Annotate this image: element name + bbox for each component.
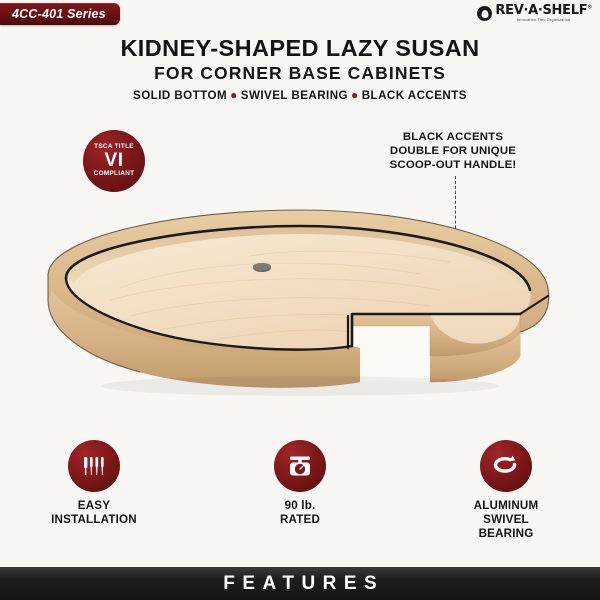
tsca-compliance-seal: TSCA TITLE VI COMPLIANT — [83, 130, 145, 192]
callout-annotation: BLACK ACCENTS DOUBLE FOR UNIQUE SCOOP-OU… — [378, 131, 528, 173]
brand-logo: REV·A·SHELF® Innovation Thru Organizatio… — [477, 4, 592, 22]
feature-label: 90 lb. RATED — [280, 499, 320, 527]
series-badge: 4CC-401 Series — [0, 3, 120, 25]
headline-feature-1: SOLID BOTTOM — [133, 89, 227, 102]
screwdrivers-icon — [68, 440, 120, 492]
features-row: EASY INSTALLATION 90 lb. RATED — [0, 440, 600, 541]
tsca-seal-line2: VI — [105, 151, 124, 171]
bullet-separator-icon: ● — [227, 88, 241, 102]
swivel-rotation-arrow-icon — [480, 440, 532, 492]
headline-feature-2: SWIVEL BEARING — [241, 89, 348, 102]
tsca-seal-line3: COMPLIANT — [94, 171, 135, 178]
page-title: KIDNEY-SHAPED LAZY SUSAN — [0, 36, 600, 61]
page-subtitle: FOR CORNER BASE CABINETS — [0, 63, 600, 84]
footer-title: FEATURES — [216, 573, 384, 595]
brand-tagline: Innovation Thru Organization — [495, 19, 592, 23]
headline-block: KIDNEY-SHAPED LAZY SUSAN FOR CORNER BASE… — [0, 36, 600, 102]
brand-trademark: ® — [587, 5, 592, 11]
feature-item-easy-installation: EASY INSTALLATION — [19, 440, 169, 527]
feature-item-swivel-bearing: ALUMINUM SWIVEL BEARING — [431, 440, 581, 541]
product-infographic-page: 4CC-401 Series REV·A·SHELF® Innovation T… — [0, 0, 600, 600]
headline-feature-list: SOLID BOTTOM●SWIVEL BEARING●BLACK ACCENT… — [0, 88, 600, 102]
callout-line3: SCOOP-OUT HANDLE! — [378, 159, 528, 173]
callout-line2: DOUBLE FOR UNIQUE — [378, 145, 528, 159]
feature-label: ALUMINUM SWIVEL BEARING — [474, 499, 539, 541]
feature-item-weight-rating: 90 lb. RATED — [225, 440, 375, 527]
footer-bar: FEATURES — [0, 567, 600, 600]
bullet-separator-icon: ● — [348, 88, 362, 102]
product-image — [0, 196, 600, 426]
callout-line1: BLACK ACCENTS — [378, 131, 528, 145]
headline-feature-3: BLACK ACCENTS — [362, 89, 467, 102]
feature-label: EASY INSTALLATION — [51, 499, 137, 527]
rev-a-shelf-dome-icon — [477, 6, 492, 21]
brand-name: REV·A·SHELF — [495, 3, 587, 18]
brand-logo-text: REV·A·SHELF® Innovation Thru Organizatio… — [495, 4, 592, 22]
kitchen-scale-icon — [274, 440, 326, 492]
